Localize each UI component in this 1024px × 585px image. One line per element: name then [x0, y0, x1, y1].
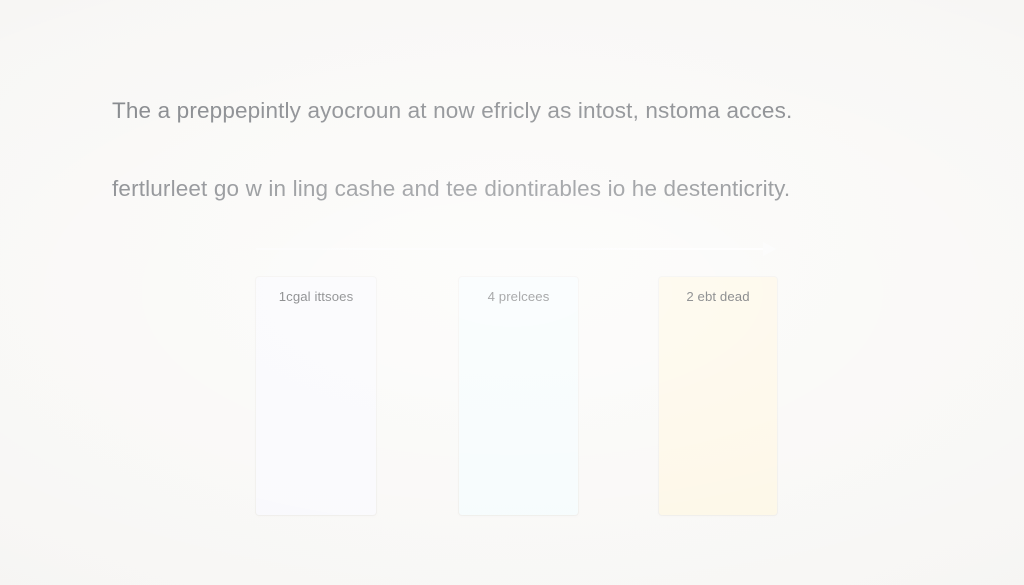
slide-canvas: The a preppepintly ayocroun at now efric… — [0, 0, 1024, 585]
arrow-right-icon — [256, 241, 776, 259]
stage-card-1[interactable]: 1cgal ittsoes — [256, 277, 376, 515]
stage-card-1-label: 1cgal ittsoes — [256, 288, 376, 306]
paragraph-line-2: fertlurleet go w in ling cashe and tee d… — [112, 169, 942, 208]
arrow-head — [763, 242, 776, 256]
paragraph-line-1: The a preppepintly ayocroun at now efric… — [112, 91, 942, 130]
arrow-shaft — [256, 248, 764, 250]
stage-card-2-label: 4 prelcees — [459, 288, 578, 306]
stage-card-3[interactable]: 2 ebt dead — [659, 277, 777, 515]
body-paragraph: The a preppepintly ayocroun at now efric… — [112, 52, 942, 247]
stage-card-2[interactable]: 4 prelcees — [459, 277, 578, 515]
stage-card-3-label: 2 ebt dead — [659, 288, 777, 306]
